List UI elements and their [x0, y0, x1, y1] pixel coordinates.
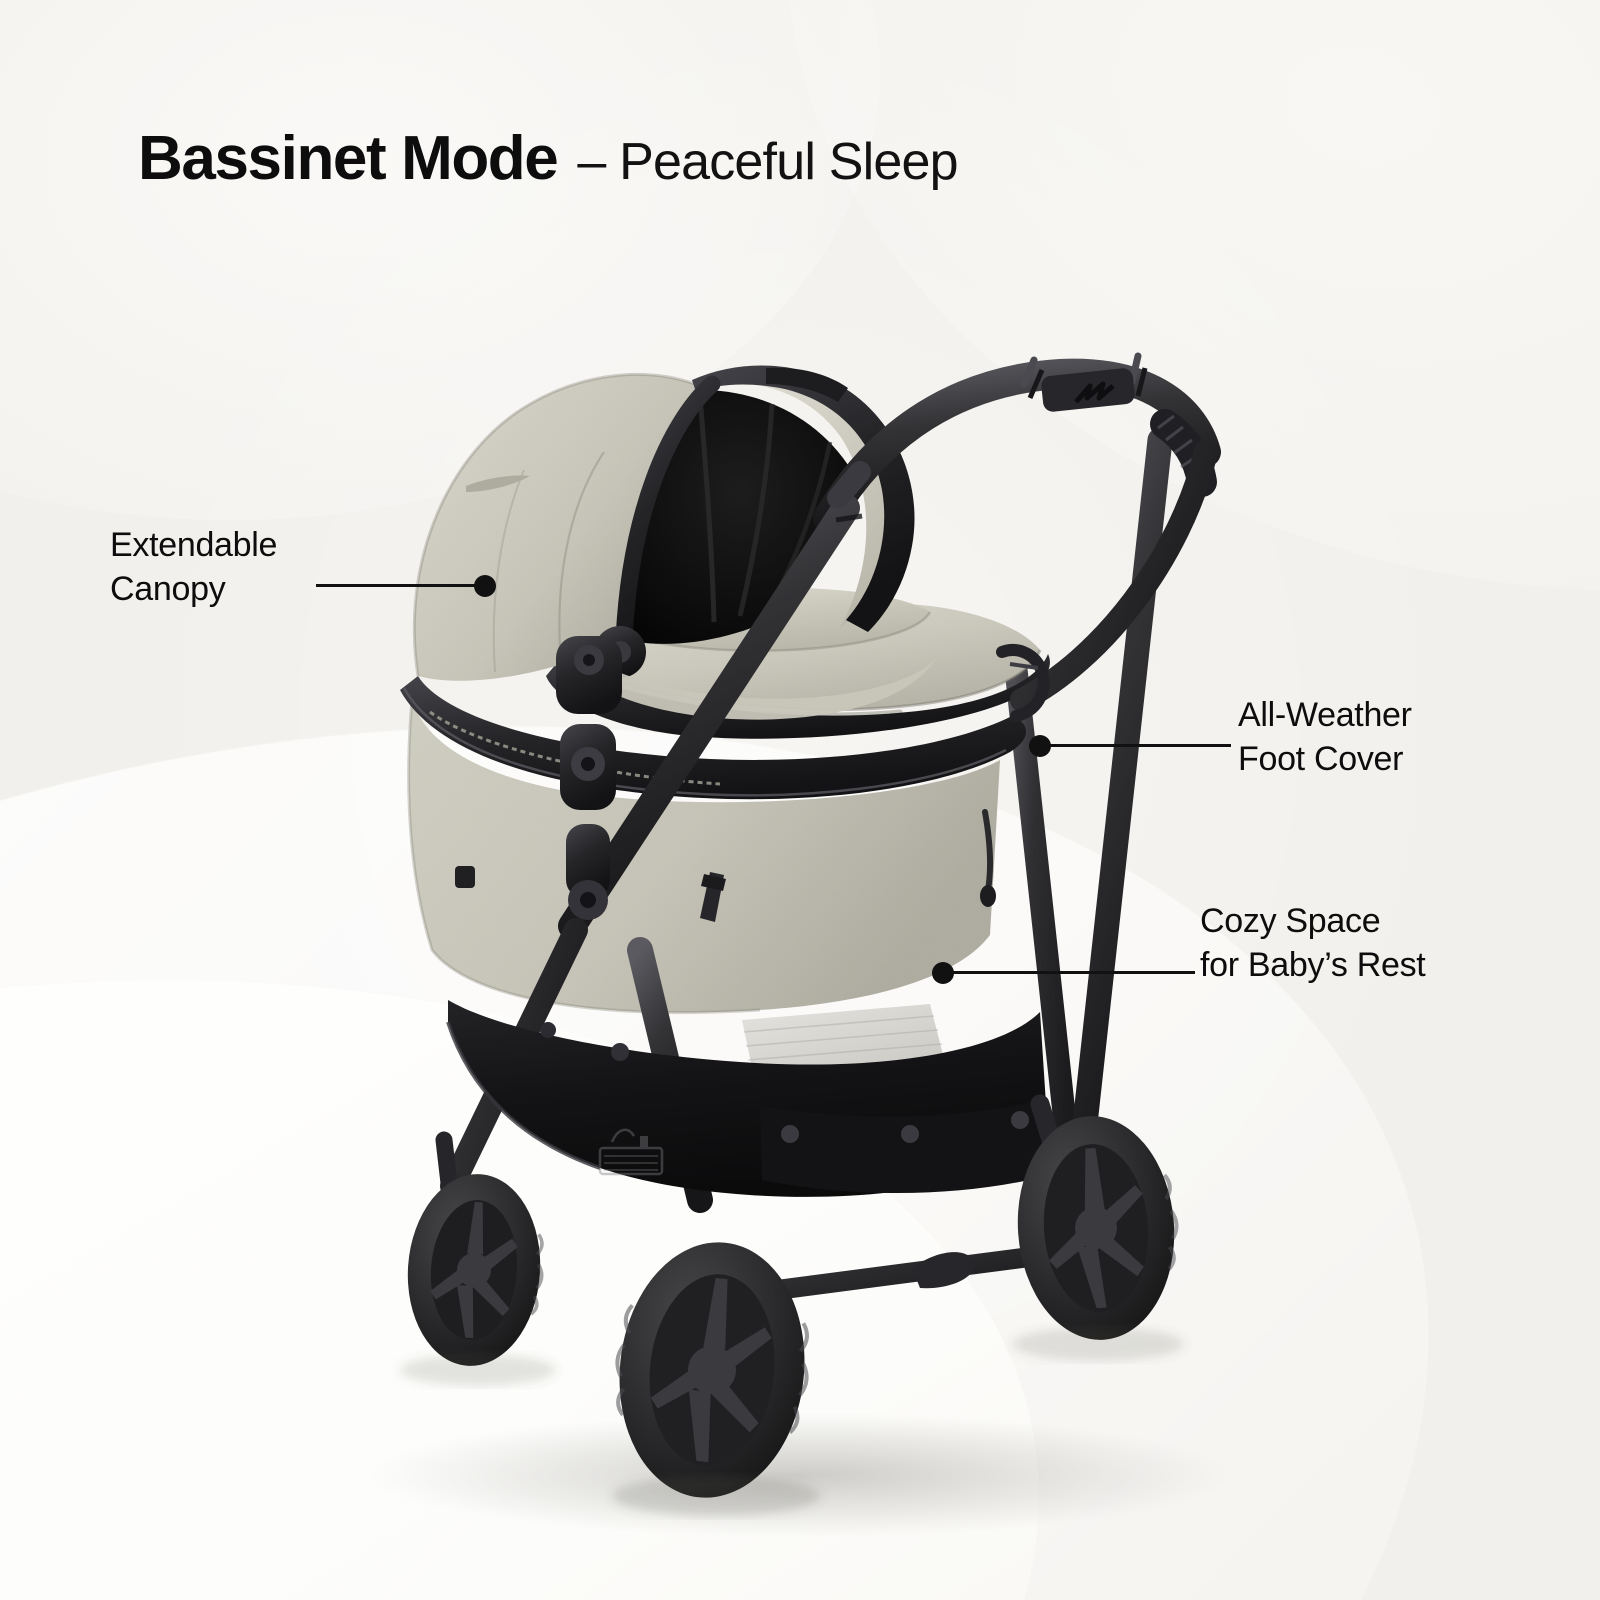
- callout-label-extendable-canopy: Extendable Canopy: [110, 524, 440, 611]
- fabric-tab: [455, 866, 475, 888]
- brake-pedal: [912, 1252, 974, 1288]
- leader-line-cozy-space: [938, 971, 1195, 974]
- product-image: mompush: [0, 0, 1600, 1600]
- leader-dot-all-weather-foot-cover: [1029, 735, 1051, 757]
- leader-line-all-weather-foot-cover: [1035, 744, 1231, 747]
- basket-rivet: [611, 1043, 629, 1061]
- basket-rivet: [781, 1125, 799, 1143]
- basket-rivet: [901, 1125, 919, 1143]
- wheel-shadow: [612, 1476, 820, 1516]
- callout-label-all-weather-foot-cover: All-Weather Foot Cover: [1238, 694, 1568, 781]
- basket-rivet: [540, 1022, 556, 1038]
- wheel-shadow: [400, 1354, 556, 1386]
- infographic-canvas: Bassinet Mode – Peaceful Sleep: [0, 0, 1600, 1600]
- callout-extendable-canopy: Extendable Canopy: [110, 524, 440, 611]
- leader-dot-cozy-space: [932, 962, 954, 984]
- wheel-shadow: [1012, 1327, 1184, 1361]
- callout-cozy-space: Cozy Space for Baby’s Rest: [1200, 900, 1560, 987]
- wheel-front-left: [401, 1140, 546, 1370]
- callout-all-weather-foot-cover: All-Weather Foot Cover: [1238, 694, 1568, 781]
- basket-rivet: [1011, 1111, 1029, 1129]
- leader-dot-extendable-canopy: [474, 575, 496, 597]
- ground-shadow: [370, 1413, 1230, 1537]
- callout-label-cozy-space: Cozy Space for Baby’s Rest: [1200, 900, 1560, 987]
